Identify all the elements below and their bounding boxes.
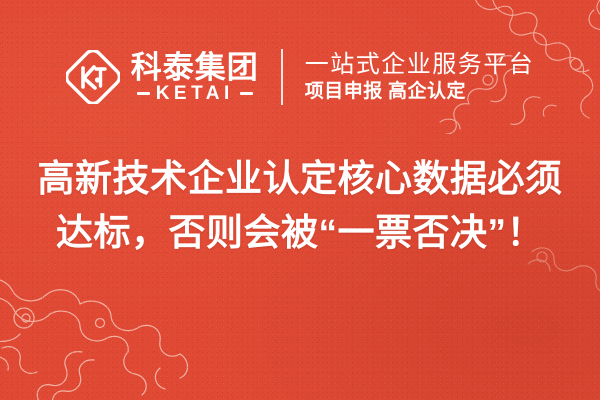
tagline-block: 一站式企业服务平台 项目申报 高企认定	[305, 53, 535, 101]
headline-line-2: 达标，否则会被“一票否决”！	[0, 206, 600, 260]
headline: 高新技术企业认定核心数据必须 达标，否则会被“一票否决”！	[0, 152, 600, 260]
brand-name-cn: 科泰集团	[131, 52, 259, 83]
tagline-sub: 项目申报 高企认定	[305, 82, 535, 101]
brand-wordmark: 科泰集团 KETAI	[131, 52, 259, 103]
promo-banner: 科泰集团 KETAI 一站式企业服务平台 项目申报 高企认定 高新技术企业认定核…	[0, 0, 600, 400]
wordmark-dash-right	[240, 92, 253, 95]
wordmark-dash-left	[137, 92, 150, 95]
banner-header: 科泰集团 KETAI 一站式企业服务平台 项目申报 高企认定	[0, 38, 600, 116]
brand-name-en: KETAI	[156, 84, 234, 103]
brand-lockup: 科泰集团 KETAI	[66, 50, 259, 104]
tagline-main: 一站式企业服务平台	[305, 53, 535, 77]
brand-name-en-row: KETAI	[131, 84, 259, 103]
cloud-pattern-bottom-left-icon	[0, 256, 252, 400]
ketai-diamond-kt-logo-icon	[66, 50, 120, 104]
headline-line-1: 高新技术企业认定核心数据必须	[0, 152, 600, 206]
header-divider	[281, 49, 283, 105]
